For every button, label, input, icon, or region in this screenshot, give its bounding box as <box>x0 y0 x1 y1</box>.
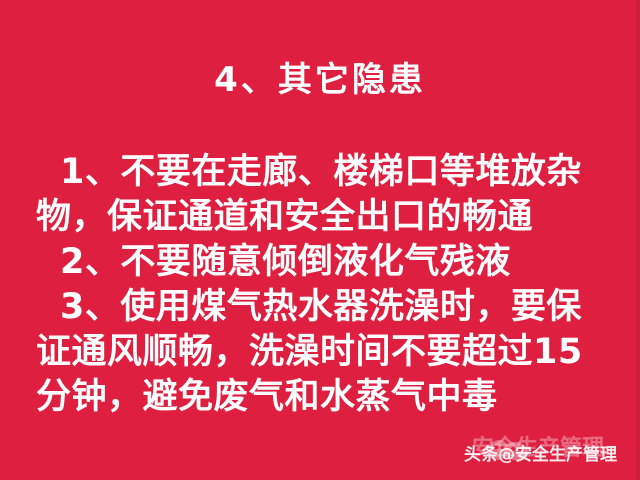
body-line: 分钟，避免废气和水蒸气中毒 <box>36 375 614 420</box>
body-line: 物，保证通道和安全出口的畅通 <box>36 195 614 240</box>
watermark: 安全生产管理 头条@安全生产管理 <box>462 438 634 474</box>
body-line: 2、不要随意倾倒液化气残液 <box>36 240 614 285</box>
body-line: 1、不要在走廊、楼梯口等堆放杂 <box>36 150 614 195</box>
page-title: 4、其它隐患 <box>214 58 426 102</box>
title-block: 4、其它隐患 <box>0 58 640 102</box>
watermark-text: 头条@安全生产管理 <box>464 444 617 466</box>
body-line: 证通风顺畅，洗澡时间不要超过15 <box>36 330 614 375</box>
slide-canvas: 4、其它隐患 1、不要在走廊、楼梯口等堆放杂 物，保证通道和安全出口的畅通 2、… <box>0 0 640 480</box>
body-line: 3、使用煤气热水器洗澡时，要保 <box>36 285 614 330</box>
body-text-block: 1、不要在走廊、楼梯口等堆放杂 物，保证通道和安全出口的畅通 2、不要随意倾倒液… <box>36 150 614 420</box>
